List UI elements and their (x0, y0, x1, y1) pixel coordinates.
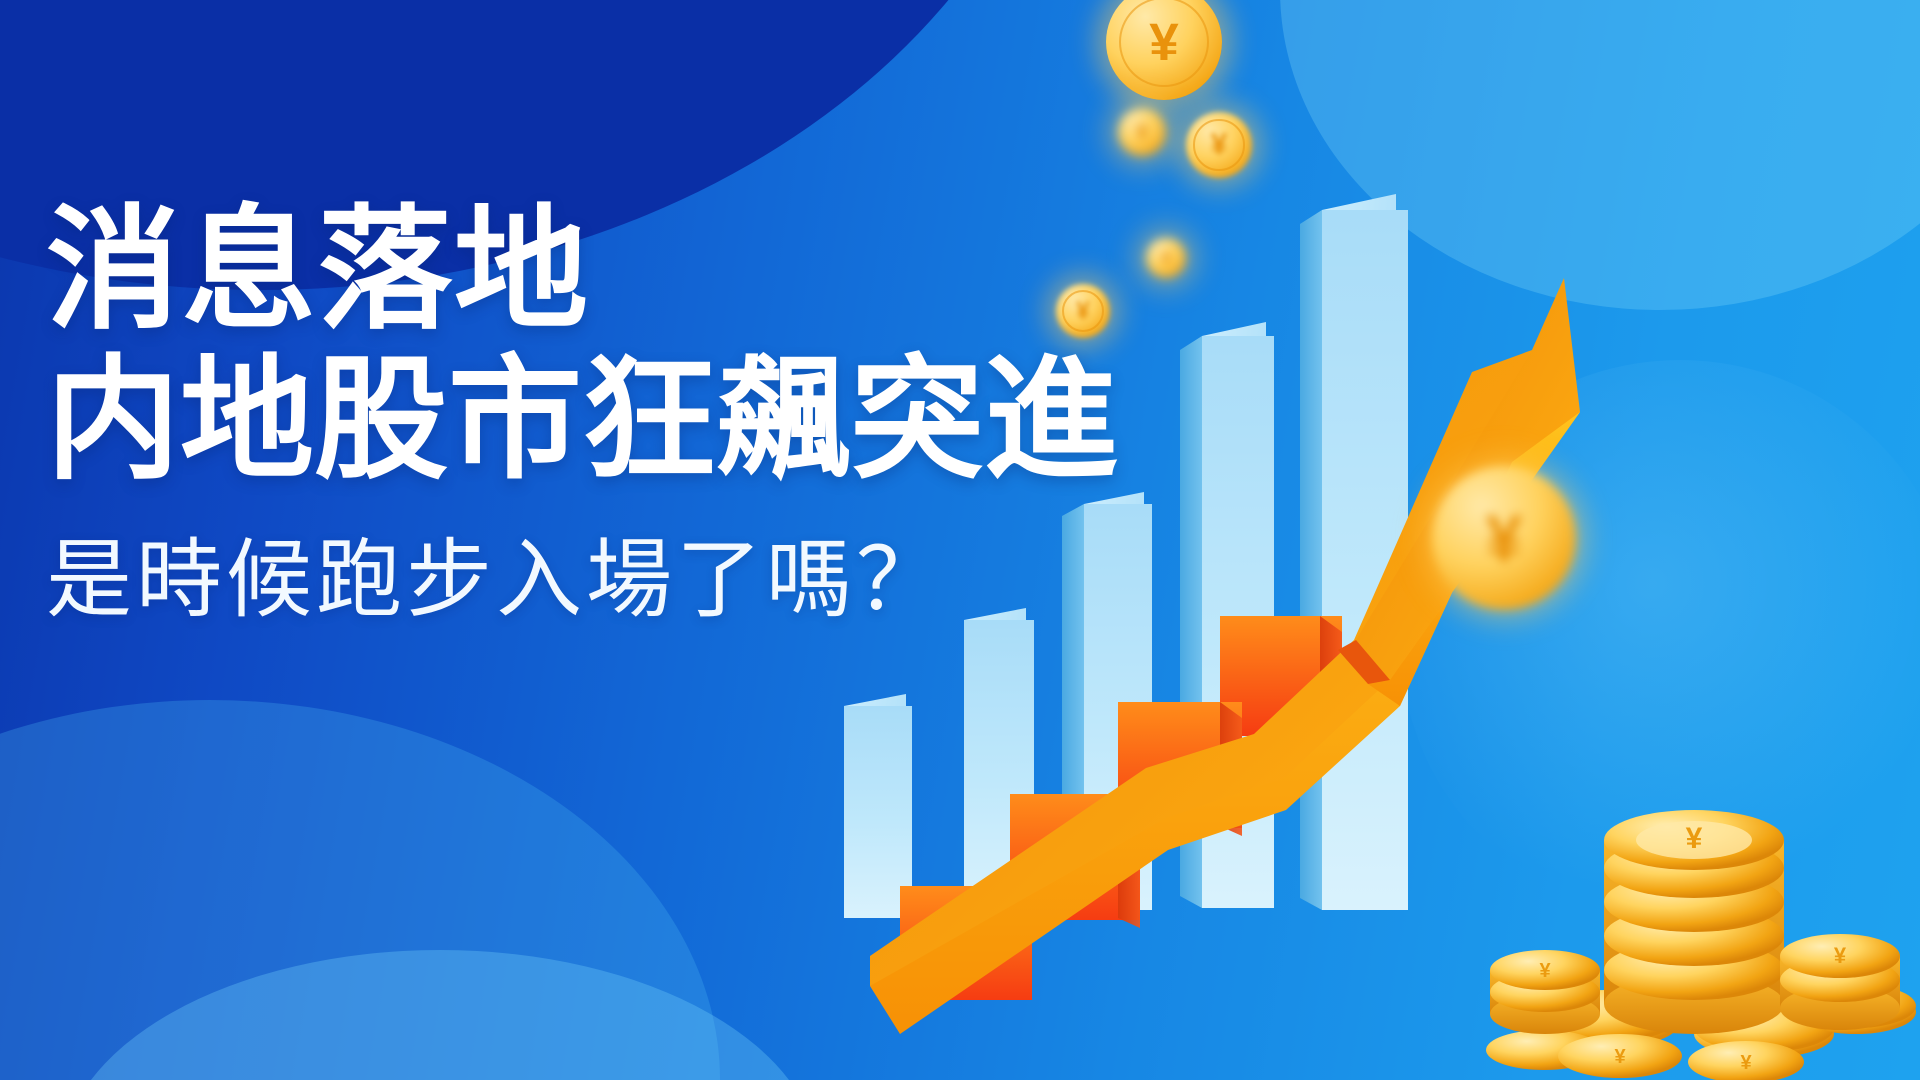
bar-5 (1300, 194, 1408, 910)
coin-symbol: ¥ (1432, 466, 1576, 610)
headline-block: 消息落地 内地股市狂飆突進 是時候跑步入場了嗎？ (46, 196, 1166, 630)
coin-top-large-icon: ¥ (1106, 0, 1222, 100)
headline-line-2: 内地股市狂飆突進 (46, 346, 1166, 496)
poster-canvas: ¥ ¥ ¥ (0, 0, 1920, 1080)
coin-rim (1193, 119, 1245, 171)
coin-upper-mid-icon: ¥ (1186, 112, 1252, 178)
svg-text:¥: ¥ (1686, 822, 1703, 855)
svg-text:¥: ¥ (1740, 1052, 1752, 1074)
background-circle-bottom-left-a (0, 700, 720, 1080)
background-circle-bottom-left-b (60, 950, 820, 1080)
gold-coin-pile: ¥ ¥ ¥ (1486, 810, 1916, 1080)
bar-1 (844, 694, 912, 918)
svg-text:¥: ¥ (1539, 960, 1551, 982)
subtitle-question: 是時候跑步入場了嗎？ (46, 530, 1166, 630)
coin-symbol: ¥ (1118, 108, 1166, 156)
svg-text:¥: ¥ (1834, 943, 1847, 968)
coin-right-big-icon: ¥ (1432, 466, 1576, 610)
svg-text:¥: ¥ (1614, 1046, 1626, 1068)
headline-line-1: 消息落地 (46, 196, 1166, 346)
coin-upper-small-icon: ¥ (1118, 108, 1166, 156)
